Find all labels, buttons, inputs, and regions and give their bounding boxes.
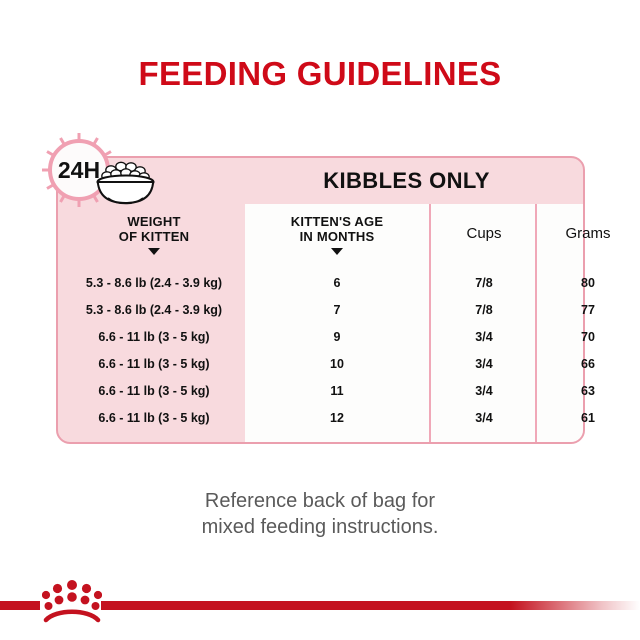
cell-age: 6: [252, 270, 422, 297]
page-title: FEEDING GUIDELINES: [0, 55, 640, 93]
footer-note-line1: Reference back of bag for: [0, 488, 640, 514]
header-weight-line1: WEIGHT: [64, 214, 244, 229]
cell-cups: 3/4: [434, 324, 534, 351]
cell-weight: 6.6 - 11 lb (3 - 5 kg): [64, 405, 244, 432]
header-grams: Grams: [538, 226, 638, 241]
cell-weight: 6.6 - 11 lb (3 - 5 kg): [64, 351, 244, 378]
table-row: 6.6 - 11 lb (3 - 5 kg) 11 3/4 63: [58, 378, 583, 405]
cell-cups: 7/8: [434, 270, 534, 297]
table-row: 6.6 - 11 lb (3 - 5 kg) 10 3/4 66: [58, 351, 583, 378]
cell-grams: 66: [538, 351, 638, 378]
header-age-line2: IN MONTHS: [252, 229, 422, 244]
table-row: 6.6 - 11 lb (3 - 5 kg) 9 3/4 70: [58, 324, 583, 351]
sort-triangle-icon: [331, 248, 343, 255]
brand-bar-left: [0, 601, 40, 610]
table-rows: 5.3 - 8.6 lb (2.4 - 3.9 kg) 6 7/8 80 5.3…: [58, 270, 583, 432]
cell-age: 10: [252, 351, 422, 378]
feeding-guidelines-page: FEEDING GUIDELINES KIBBLES ONLY WEIGHT O…: [0, 0, 640, 640]
cell-grams: 63: [538, 378, 638, 405]
footer-note: Reference back of bag for mixed feeding …: [0, 488, 640, 540]
cell-grams: 61: [538, 405, 638, 432]
food-bowl-icon: [88, 158, 163, 208]
header-age-line1: KITTEN'S AGE: [252, 214, 422, 229]
kibbles-only-label: KIBBLES ONLY: [323, 168, 490, 194]
header-kittens-age: KITTEN'S AGE IN MONTHS: [252, 214, 422, 255]
cell-weight: 6.6 - 11 lb (3 - 5 kg): [64, 378, 244, 405]
royal-canin-crown-logo: [42, 578, 102, 624]
header-weight-line2: OF KITTEN: [64, 229, 244, 244]
table-row: 6.6 - 11 lb (3 - 5 kg) 12 3/4 61: [58, 405, 583, 432]
cell-age: 11: [252, 378, 422, 405]
cell-cups: 3/4: [434, 405, 534, 432]
cell-grams: 70: [538, 324, 638, 351]
sort-triangle-icon: [148, 248, 160, 255]
brand-bar-right: [101, 601, 640, 610]
table-row: 5.3 - 8.6 lb (2.4 - 3.9 kg) 7 7/8 77: [58, 297, 583, 324]
cell-age: 12: [252, 405, 422, 432]
table-column-headers: WEIGHT OF KITTEN KITTEN'S AGE IN MONTHS …: [58, 204, 583, 266]
cell-weight: 5.3 - 8.6 lb (2.4 - 3.9 kg): [64, 297, 244, 324]
cell-cups: 3/4: [434, 351, 534, 378]
header-cups: Cups: [434, 226, 534, 241]
cell-cups: 7/8: [434, 297, 534, 324]
cell-weight: 6.6 - 11 lb (3 - 5 kg): [64, 324, 244, 351]
cell-grams: 80: [538, 270, 638, 297]
cell-weight: 5.3 - 8.6 lb (2.4 - 3.9 kg): [64, 270, 244, 297]
cell-cups: 3/4: [434, 378, 534, 405]
cell-grams: 77: [538, 297, 638, 324]
header-weight-of-kitten: WEIGHT OF KITTEN: [64, 214, 244, 255]
table-row: 5.3 - 8.6 lb (2.4 - 3.9 kg) 6 7/8 80: [58, 270, 583, 297]
cell-age: 9: [252, 324, 422, 351]
cell-age: 7: [252, 297, 422, 324]
footer-note-line2: mixed feeding instructions.: [0, 514, 640, 540]
